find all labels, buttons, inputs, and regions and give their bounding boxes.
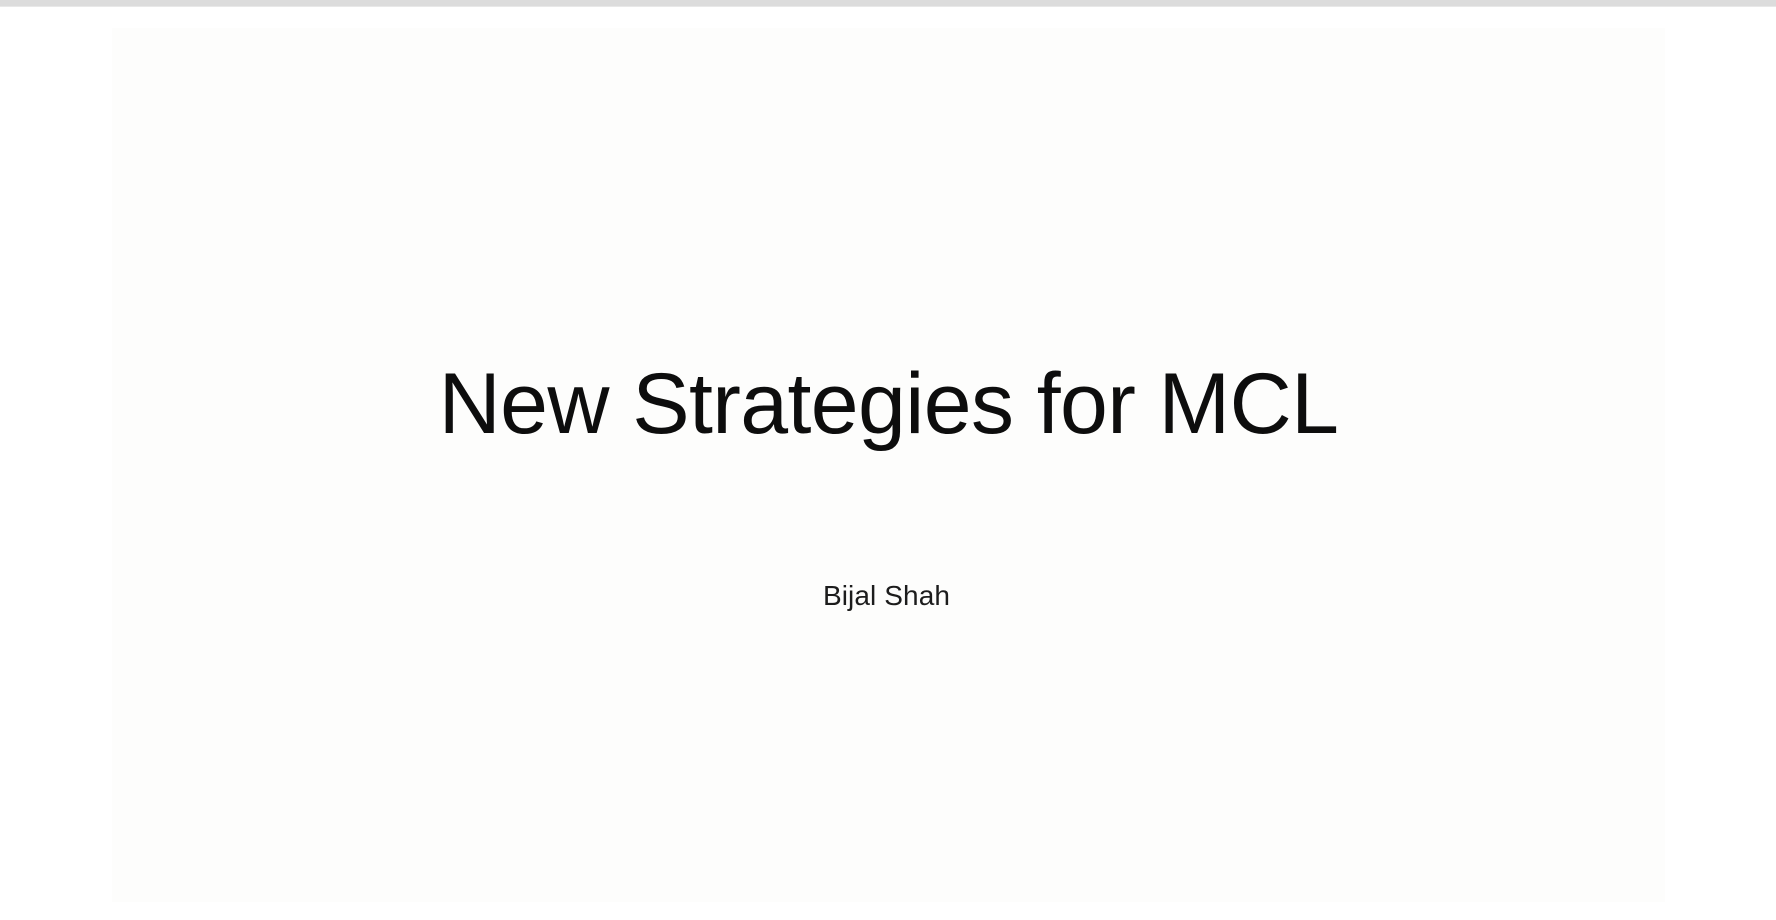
- viewer-top-strip: [0, 0, 1776, 7]
- subtitle-placeholder: Bijal Shah: [112, 579, 1661, 613]
- title-placeholder: New Strategies for MCL: [112, 358, 1665, 451]
- slide-canvas: New Strategies for MCL Bijal Shah: [112, 28, 1665, 902]
- slide-title: New Strategies for MCL: [439, 358, 1339, 451]
- slide-subtitle-author: Bijal Shah: [823, 579, 950, 613]
